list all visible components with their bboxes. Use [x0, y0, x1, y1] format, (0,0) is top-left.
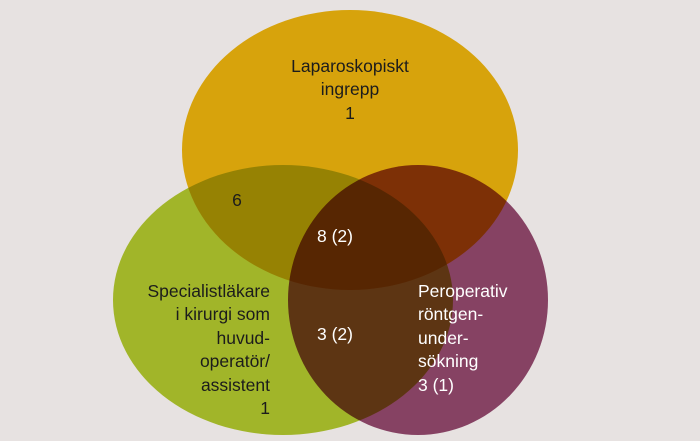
venn-circle-peroperative-xray	[288, 165, 548, 435]
venn-circles	[0, 0, 700, 441]
venn-diagram-figure: Laparoskopiskt ingrepp 1 Specialistläkar…	[0, 0, 700, 441]
